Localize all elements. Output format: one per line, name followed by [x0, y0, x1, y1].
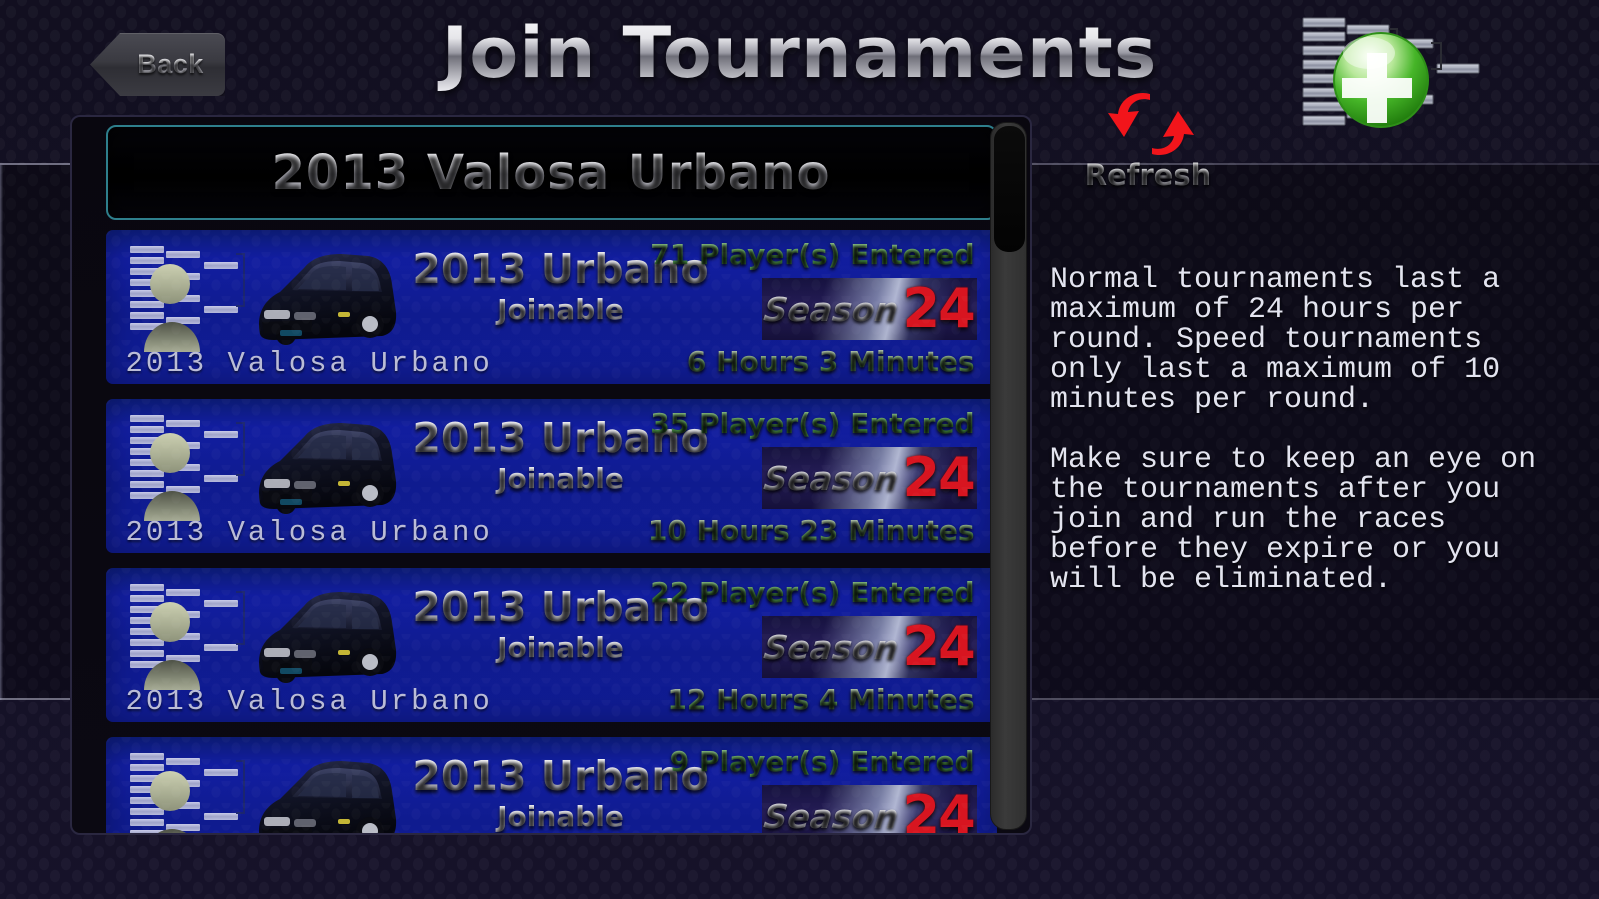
players-entered: 22 Player(s) Entered [650, 576, 974, 609]
season-badge: Season 24 [762, 616, 977, 678]
season-number: 24 [903, 789, 974, 835]
tournament-status: Joinable [361, 631, 761, 664]
season-number: 24 [903, 451, 974, 505]
time-remaining: 6 Hours 3 Minutes [687, 345, 975, 378]
tournament-track: 2013 Valosa Urbano [126, 685, 493, 718]
bracket-player-icon [124, 578, 264, 696]
scrollbar-thumb[interactable] [994, 126, 1025, 252]
season-word: Season [762, 459, 900, 498]
tournament-rows: 2013 Urbano Joinable 2013 Valosa Urbano … [106, 230, 997, 835]
tournament-row-3[interactable]: 2013 Urbano Joinable 2013 Valosa Urbano … [106, 568, 997, 722]
players-entered: 35 Player(s) Entered [650, 407, 974, 440]
tournament-row-1[interactable]: 2013 Urbano Joinable 2013 Valosa Urbano … [106, 230, 997, 384]
tournament-track: 2013 Valosa Urbano [126, 516, 493, 549]
list-header: 2013 Valosa Urbano [106, 125, 997, 220]
players-entered: 71 Player(s) Entered [650, 238, 974, 271]
tournament-track: 2013 Valosa Urbano [126, 347, 493, 380]
tournament-bracket-add-icon [1279, 8, 1509, 148]
tournament-row-4[interactable]: 2013 Urbano Joinable 9 Player(s) Entered… [106, 737, 997, 835]
info-panel: Normal tournaments last a maximum of 24 … [1050, 265, 1550, 625]
info-paragraph-1: Normal tournaments last a maximum of 24 … [1050, 265, 1550, 415]
time-remaining: 10 Hours 23 Minutes [648, 514, 975, 547]
info-paragraph-2: Make sure to keep an eye on the tourname… [1050, 445, 1550, 595]
players-entered: 9 Player(s) Entered [670, 745, 975, 778]
season-badge: Season 24 [762, 278, 977, 340]
list-header-title: 2013 Valosa Urbano [272, 145, 831, 201]
season-word: Season [762, 628, 900, 667]
season-number: 24 [903, 620, 974, 674]
season-badge: Season 24 [762, 785, 977, 835]
tournament-row-2[interactable]: 2013 Urbano Joinable 2013 Valosa Urbano … [106, 399, 997, 553]
season-word: Season [762, 797, 900, 836]
season-word: Season [762, 290, 900, 329]
bracket-player-icon [124, 409, 264, 527]
season-badge: Season 24 [762, 447, 977, 509]
tournament-status: Joinable [361, 462, 761, 495]
tournament-status: Joinable [361, 800, 761, 833]
season-number: 24 [903, 282, 974, 336]
tournament-list-panel: 2013 Valosa Urbano [70, 115, 1032, 835]
time-remaining: 12 Hours 4 Minutes [667, 683, 974, 716]
list-scrollbar[interactable] [990, 122, 1027, 830]
tournament-status: Joinable [361, 293, 761, 326]
refresh-label: Refresh [1078, 158, 1218, 192]
left-edge-highlight [0, 165, 3, 700]
bracket-player-icon [124, 240, 264, 358]
refresh-arrows-icon [1106, 88, 1196, 160]
refresh-button[interactable]: Refresh [1078, 88, 1218, 198]
bracket-player-icon [124, 747, 264, 835]
